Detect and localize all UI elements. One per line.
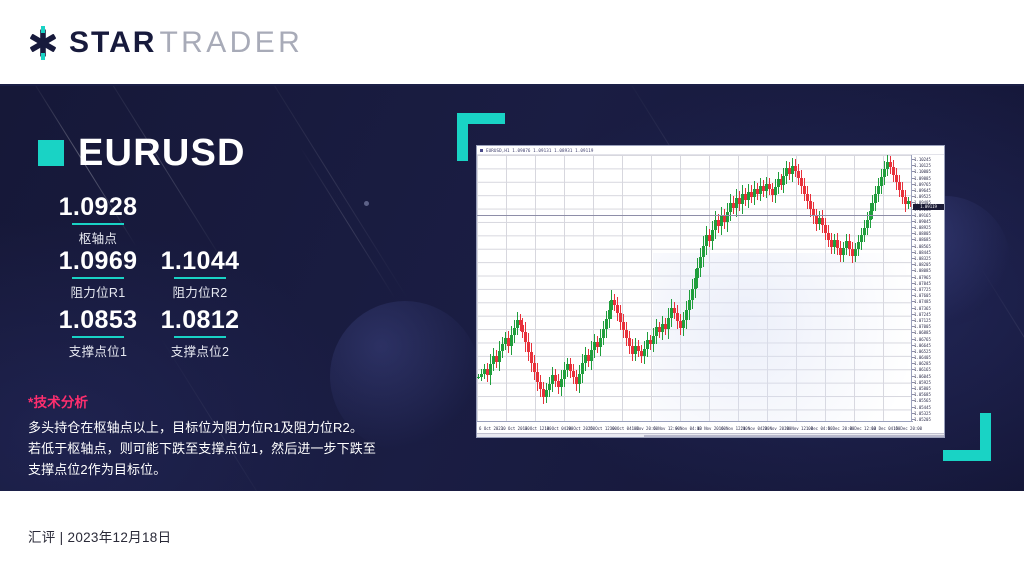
price-axis-tick (912, 369, 915, 370)
instrument-title: EURUSD (38, 134, 246, 172)
level-label: 支撑点位2 (140, 341, 260, 360)
price-axis-tick (912, 227, 915, 228)
price-axis-label: 1.05805 (914, 386, 931, 391)
price-axis-tick (912, 301, 915, 302)
page-title: EURUSD (78, 134, 246, 172)
price-axis-tick (912, 357, 915, 358)
price-axis-tick (912, 400, 915, 401)
price-axis-label: 1.06045 (914, 374, 931, 379)
page-header: STAR TRADER (0, 0, 1024, 85)
price-axis-label: 1.09045 (914, 219, 931, 224)
price-axis-tick (912, 308, 915, 309)
price-axis-tick (912, 419, 915, 420)
price-axis-tick (912, 196, 915, 197)
price-axis-label: 1.08205 (914, 262, 931, 267)
price-axis-label: 1.09165 (914, 213, 931, 218)
analysis-line-3: 支撑点位2作为目标位。 (28, 459, 398, 480)
brand-logo: STAR TRADER (26, 26, 303, 60)
price-axis[interactable]: 1.102451.101251.100051.098851.097651.096… (911, 155, 944, 423)
level-label: 枢轴点 (38, 228, 158, 247)
price-axis-tick (912, 363, 915, 364)
price-axis-label: 1.09765 (914, 182, 931, 187)
price-axis-tick (912, 332, 915, 333)
price-axis-label: 1.07125 (914, 318, 931, 323)
level-underline (174, 336, 226, 338)
price-axis-tick (912, 246, 915, 247)
price-axis-tick (912, 289, 915, 290)
level-underline (72, 223, 124, 225)
hero-stage: EURUSD 1.0928 枢轴点 1.0969 阻力位R1 1.1044 阻力… (0, 86, 1024, 491)
price-axis-tick (912, 178, 915, 179)
price-axis-tick (912, 239, 915, 240)
price-axis-label: 1.07005 (914, 324, 931, 329)
price-axis-label: 1.07605 (914, 293, 931, 298)
price-axis-tick (912, 159, 915, 160)
price-axis-tick (912, 382, 915, 383)
title-accent-square (38, 140, 64, 166)
chart-scrollbar[interactable] (477, 433, 945, 438)
time-axis-label: 15 Dec 20:00 (893, 426, 922, 431)
price-axis-label: 1.07365 (914, 306, 931, 311)
price-axis-tick (912, 320, 915, 321)
price-axis-tick (912, 252, 915, 253)
price-axis-label: 1.08085 (914, 268, 931, 273)
level-value: 1.0812 (140, 307, 260, 333)
price-axis-tick (912, 190, 915, 191)
price-axis-tick (912, 339, 915, 340)
price-axis-tick (912, 277, 915, 278)
price-axis-tick (912, 202, 915, 203)
price-axis-tick (912, 376, 915, 377)
price-axis-tick (912, 171, 915, 172)
price-axis-label: 1.07725 (914, 287, 931, 292)
chart-symbol-icon (480, 149, 483, 152)
price-axis-label: 1.08685 (914, 237, 931, 242)
price-axis-tick (912, 413, 915, 414)
price-axis-label: 1.06765 (914, 337, 931, 342)
price-axis-label: 1.07845 (914, 281, 931, 286)
price-axis-tick (912, 295, 915, 296)
asterisk-logo-icon (26, 26, 60, 60)
price-axis-tick (912, 264, 915, 265)
price-axis-label: 1.10125 (914, 163, 931, 168)
price-axis-label: 1.08805 (914, 231, 931, 236)
price-axis-tick (912, 221, 915, 222)
current-price-tag: 1.09119 (913, 204, 944, 210)
price-chart[interactable]: EURUSD,H1 1.09076 1.09131 1.08931 1.0911… (476, 145, 945, 438)
price-axis-tick (912, 215, 915, 216)
level-resistance-2: 1.1044 阻力位R2 (140, 248, 260, 301)
price-axis-label: 1.10245 (914, 157, 931, 162)
level-underline (174, 277, 226, 279)
price-axis-label: 1.08565 (914, 244, 931, 249)
price-axis-label: 1.08445 (914, 250, 931, 255)
price-axis-label: 1.05565 (914, 398, 931, 403)
chart-scrollbar-thumb[interactable] (644, 435, 944, 438)
level-pivot: 1.0928 枢轴点 (38, 194, 158, 247)
chart-title-bar: EURUSD,H1 1.09076 1.09131 1.08931 1.0911… (477, 146, 944, 155)
price-axis-label: 1.05925 (914, 380, 931, 385)
price-axis-tick (912, 258, 915, 259)
price-axis-label: 1.06525 (914, 349, 931, 354)
brand-name-bold: STAR (69, 26, 156, 60)
price-axis-tick (912, 394, 915, 395)
price-axis-label: 1.06405 (914, 355, 931, 360)
decor-dot (364, 201, 369, 206)
level-underline (72, 277, 124, 279)
price-axis-label: 1.09525 (914, 194, 931, 199)
level-value: 1.0928 (38, 194, 158, 220)
price-axis-label: 1.06885 (914, 330, 931, 335)
candlestick-plot-area[interactable] (477, 155, 913, 423)
price-axis-label: 1.05325 (914, 411, 931, 416)
price-axis-label: 1.06165 (914, 367, 931, 372)
price-axis-tick (912, 326, 915, 327)
price-axis-tick (912, 407, 915, 408)
analysis-line-1: 多头持仓在枢轴点以上，目标位为阻力位R1及阻力位R2。 (28, 417, 398, 438)
analysis-heading: *技术分析 (28, 391, 398, 411)
price-axis-tick (912, 345, 915, 346)
price-axis-tick (912, 314, 915, 315)
price-axis-tick (912, 283, 915, 284)
price-axis-label: 1.09885 (914, 176, 931, 181)
level-value: 1.1044 (140, 248, 260, 274)
price-axis-tick (912, 165, 915, 166)
bracket-bottom-right (943, 413, 991, 461)
level-label: 阻力位R2 (140, 282, 260, 301)
price-axis-tick (912, 388, 915, 389)
price-axis-label: 1.07245 (914, 312, 931, 317)
time-axis-label: 6 Oct 2023 (479, 426, 503, 431)
footer-caption: 汇评 | 2023年12月18日 (28, 526, 171, 546)
price-axis-label: 1.10005 (914, 169, 931, 174)
decor-streak (300, 146, 396, 299)
price-axis-tick (912, 270, 915, 271)
price-axis-label: 1.05205 (914, 417, 931, 422)
price-axis-label: 1.09645 (914, 188, 931, 193)
price-axis-tick (912, 184, 915, 185)
brand-name-light: TRADER (159, 26, 303, 60)
price-axis-tick (912, 351, 915, 352)
page-footer: 汇评 | 2023年12月18日 (0, 491, 1024, 576)
price-axis-label: 1.06645 (914, 343, 931, 348)
price-axis-label: 1.08925 (914, 225, 931, 230)
technical-analysis-block: *技术分析 多头持仓在枢轴点以上，目标位为阻力位R1及阻力位R2。 若低于枢轴点… (28, 391, 398, 480)
price-axis-label: 1.05445 (914, 405, 931, 410)
price-axis-label: 1.07965 (914, 275, 931, 280)
chart-title: EURUSD,H1 1.09076 1.09131 1.08931 1.0911… (486, 148, 593, 153)
price-axis-label: 1.08325 (914, 256, 931, 261)
price-axis-label: 1.06285 (914, 361, 931, 366)
level-underline (72, 336, 124, 338)
price-axis-label: 1.07485 (914, 299, 931, 304)
level-support-2: 1.0812 支撑点位2 (140, 307, 260, 360)
price-axis-tick (912, 233, 915, 234)
price-axis-label: 1.05685 (914, 392, 931, 397)
analysis-line-2: 若低于枢轴点，则可能下跌至支撑点位1，然后进一步下跌至 (28, 438, 398, 459)
